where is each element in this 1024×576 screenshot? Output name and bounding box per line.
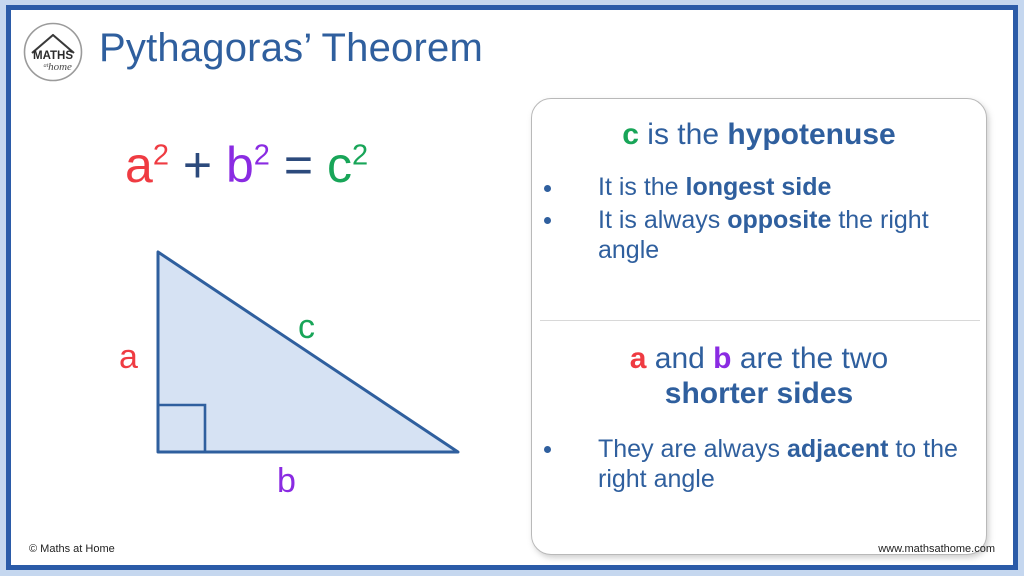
equation-term-c: c2	[327, 137, 368, 193]
shorter-heading-symbol-b: b	[713, 342, 731, 375]
shorter-sides-bullet-list: They are always adjacent to the right an…	[532, 434, 986, 495]
footer-copyright: © Maths at Home	[29, 543, 115, 555]
bullet-dot-icon	[544, 446, 551, 453]
bullet-text-bold: adjacent	[787, 435, 888, 463]
slide-canvas: MATHS at home Pythagoras’ Theorem a2 + b…	[0, 0, 1024, 576]
bullet-text-pre: It is always	[598, 206, 727, 234]
triangle-label-a: a	[119, 340, 138, 374]
triangle-shape	[158, 252, 458, 452]
equation-exponent-b: 2	[254, 139, 270, 171]
info-panel: c is the hypotenuse It is the longest si…	[531, 98, 987, 555]
pythagoras-equation: a2 + b2 = c2	[125, 140, 368, 190]
hypotenuse-section: c is the hypotenuse It is the longest si…	[532, 99, 986, 320]
hypotenuse-heading-mid: is the	[639, 118, 727, 151]
bullet-dot-icon	[544, 217, 551, 224]
hypotenuse-heading: c is the hypotenuse	[532, 99, 986, 152]
bullet-text-pre: It is the	[598, 173, 686, 201]
list-item: They are always adjacent to the right an…	[532, 434, 986, 495]
shorter-sides-section: a and b are the twoshorter sides They ar…	[532, 321, 986, 555]
list-item: It is always opposite the right angle	[532, 205, 986, 266]
triangle-label-b: b	[277, 464, 296, 498]
shorter-sides-heading: a and b are the twoshorter sides	[532, 321, 986, 412]
shorter-heading-and: and	[646, 342, 713, 375]
bullet-text-bold: opposite	[727, 206, 831, 234]
shorter-heading-bold: shorter sides	[665, 377, 853, 410]
hypotenuse-heading-bold: hypotenuse	[727, 118, 895, 151]
bullet-text-bold: longest side	[686, 173, 832, 201]
slide-border-frame: MATHS at home Pythagoras’ Theorem a2 + b…	[6, 5, 1018, 570]
logo-text-home: home	[48, 61, 72, 73]
equation-equals-operator: =	[284, 137, 313, 193]
triangle-label-c: c	[298, 310, 315, 344]
equation-plus-operator: +	[183, 137, 212, 193]
hypotenuse-bullet-list: It is the longest side It is always oppo…	[532, 172, 986, 266]
list-item: It is the longest side	[532, 172, 986, 203]
equation-term-b: b2	[226, 137, 270, 193]
slide-content-area: MATHS at home Pythagoras’ Theorem a2 + b…	[11, 10, 1013, 565]
hypotenuse-heading-symbol: c	[622, 118, 639, 151]
equation-term-a: a2	[125, 137, 169, 193]
equation-exponent-a: 2	[153, 139, 169, 171]
shorter-heading-mid: are the two	[731, 342, 888, 375]
page-title: Pythagoras’ Theorem	[99, 26, 483, 71]
shorter-heading-symbol-a: a	[630, 342, 647, 375]
maths-at-home-logo: MATHS at home	[22, 21, 84, 83]
bullet-dot-icon	[544, 185, 551, 192]
equation-exponent-c: 2	[352, 139, 368, 171]
footer-url: www.mathsathome.com	[878, 543, 995, 555]
bullet-text-pre: They are always	[598, 435, 787, 463]
logo-icon: MATHS at home	[22, 21, 84, 83]
